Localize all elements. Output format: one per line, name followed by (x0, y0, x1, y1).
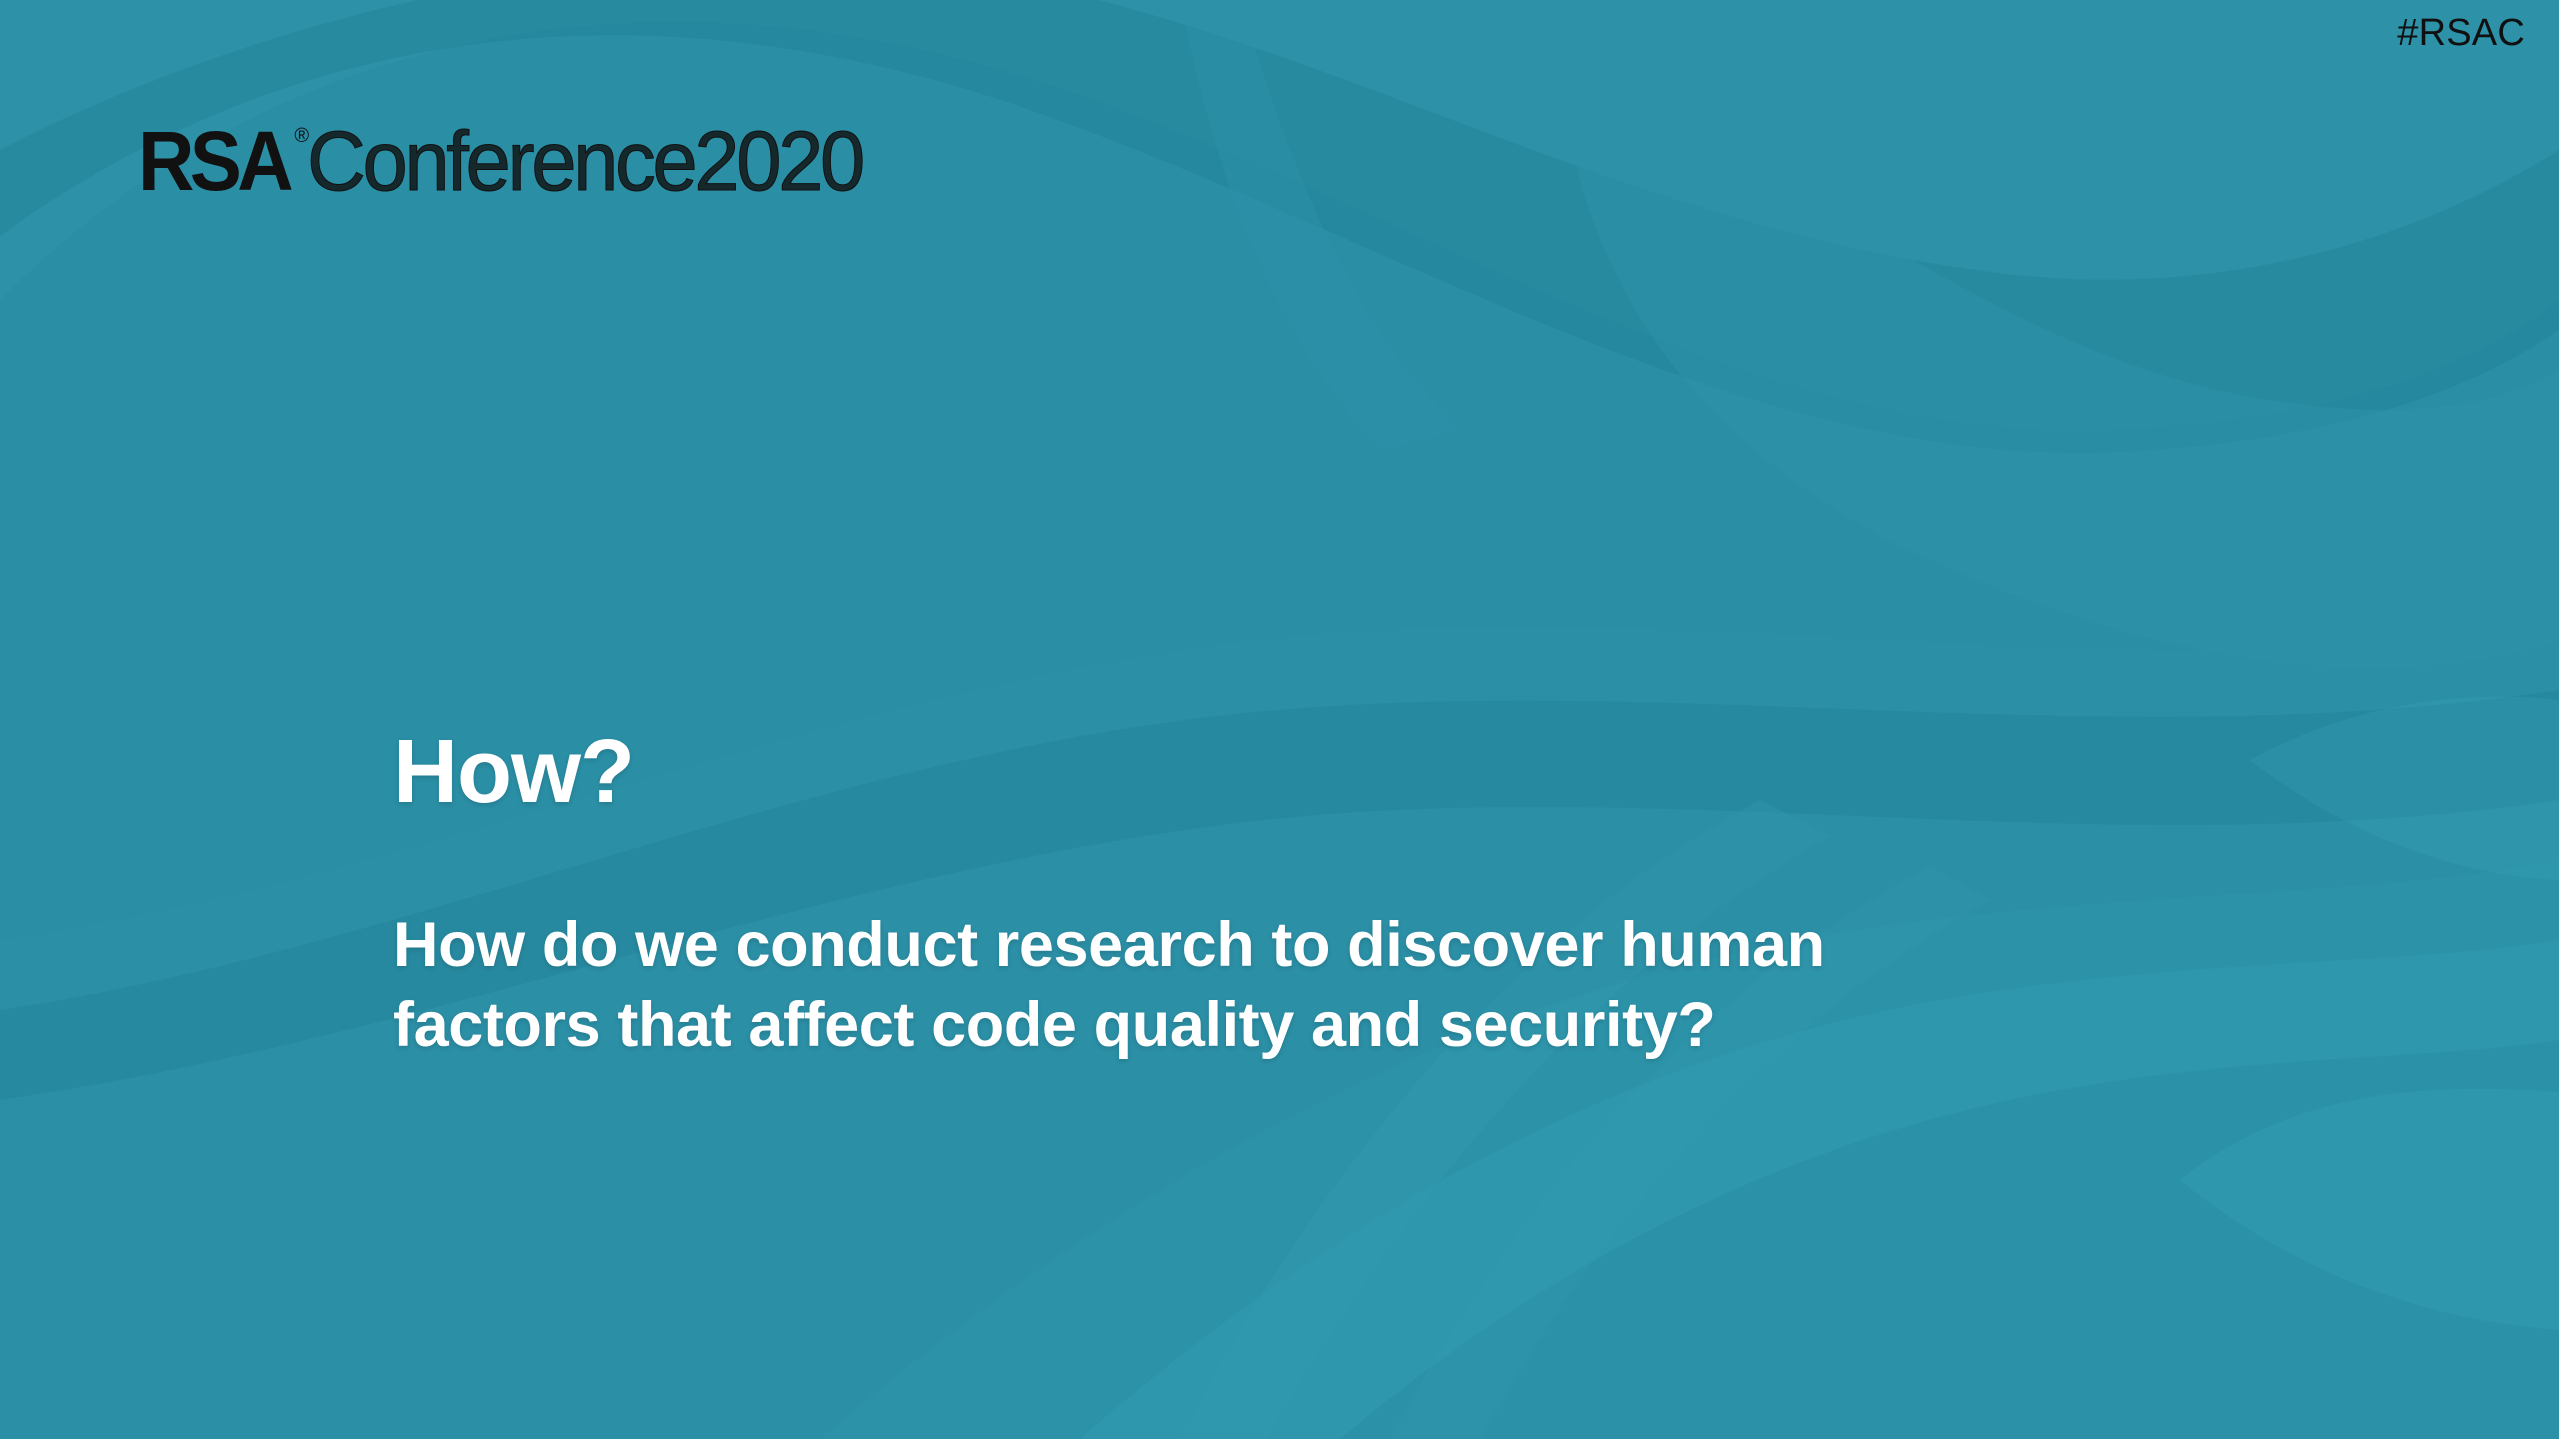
slide-subtitle-line-2: factors that affect code quality and sec… (393, 985, 2093, 1066)
presentation-slide: #RSAC RSA ® Conference2020 How? How do w… (0, 0, 2559, 1439)
background-wave-graphic (0, 0, 2559, 1439)
slide-content-block: How? How do we conduct research to disco… (393, 725, 2093, 1066)
rsac-hashtag: #RSAC (2397, 14, 2525, 52)
logo-brand-text: RSA (138, 120, 289, 202)
slide-title: How? (393, 725, 2093, 820)
logo-event-text: Conference2020 (307, 120, 862, 202)
slide-subtitle-line-1: How do we conduct research to discover h… (393, 905, 2093, 986)
slide-subtitle: How do we conduct research to discover h… (393, 905, 2093, 1066)
rsa-conference-logo: RSA ® Conference2020 (138, 120, 879, 202)
